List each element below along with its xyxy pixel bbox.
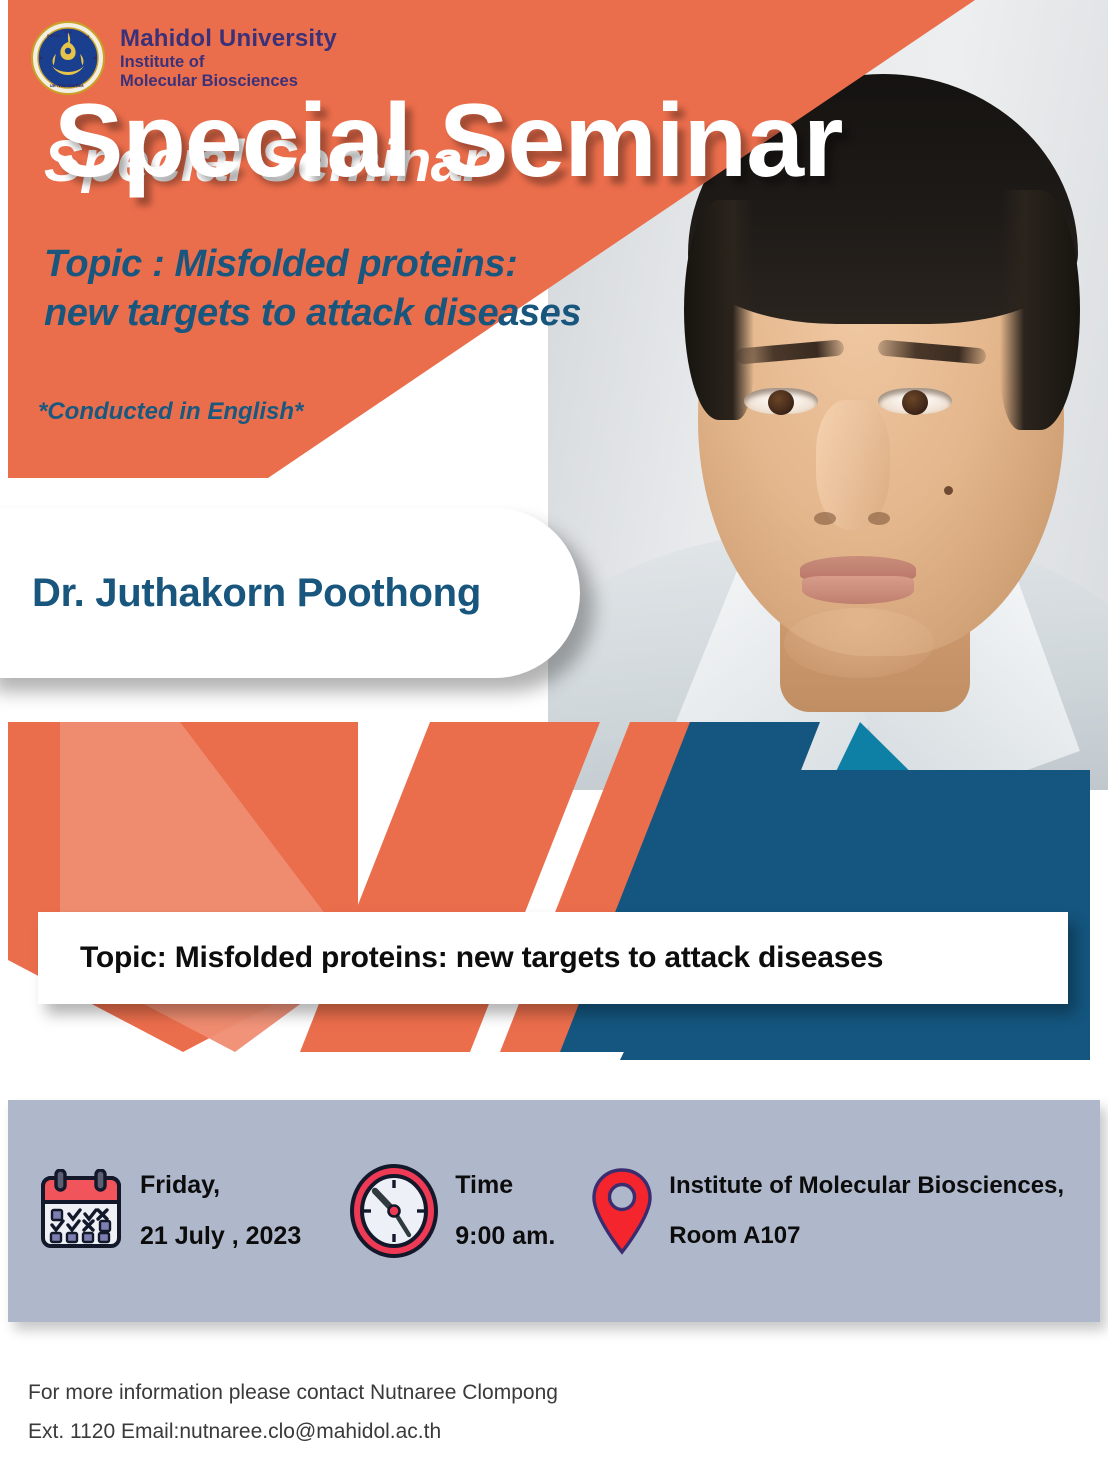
event-location-line2: Room A107 bbox=[669, 1211, 1064, 1261]
seminar-poster: อตตาน ํ อุปม ํ กเร มหาวิทยาลัยมหิดล Mahi… bbox=[0, 0, 1108, 1478]
svg-text:ํ กเร: ํ กเร bbox=[80, 34, 90, 39]
event-location-text: Institute of Molecular Biosciences, Room… bbox=[669, 1161, 1064, 1262]
event-time: Time 9:00 am. bbox=[349, 1160, 555, 1263]
clock-icon bbox=[349, 1163, 439, 1259]
event-date-line2: 21 July , 2023 bbox=[140, 1211, 301, 1262]
photo-nose bbox=[816, 400, 890, 530]
event-time-text: Time 9:00 am. bbox=[455, 1160, 555, 1263]
chevron-banner bbox=[0, 700, 1108, 1100]
header-topic-line1: Topic : Misfolded proteins: bbox=[44, 240, 744, 289]
logo-line-institute: Institute of bbox=[120, 53, 337, 72]
speaker-name: Dr. Juthakorn Poothong bbox=[32, 571, 481, 616]
photo-mole bbox=[944, 486, 953, 495]
event-location: Institute of Molecular Biosciences, Room… bbox=[591, 1161, 1064, 1262]
svg-text:อตตาน: อตตาน bbox=[47, 33, 60, 38]
event-location-line1: Institute of Molecular Biosciences, bbox=[669, 1161, 1064, 1211]
event-time-value: 9:00 am. bbox=[455, 1211, 555, 1262]
event-date-line1: Friday, bbox=[140, 1160, 301, 1211]
language-note: *Conducted in English* bbox=[38, 398, 303, 426]
photo-lower-lip bbox=[802, 576, 914, 604]
event-info-bar: Friday, 21 July , 2023 bbox=[8, 1100, 1100, 1322]
speaker-name-pill: Dr. Juthakorn Poothong bbox=[0, 508, 580, 678]
svg-text:ํ อุปม: ํ อุปม bbox=[61, 28, 72, 35]
photo-nostril-left bbox=[814, 512, 836, 525]
photo-hair-right bbox=[1000, 190, 1080, 430]
header-topic-line2: new targets to attack diseases bbox=[44, 289, 744, 338]
calendar-icon bbox=[38, 1169, 124, 1253]
contact-footer: For more information please contact Nutn… bbox=[28, 1374, 928, 1452]
map-pin-icon bbox=[591, 1167, 653, 1255]
photo-iris-right bbox=[902, 390, 928, 415]
banner-topic-strip: Topic: Misfolded proteins: new targets t… bbox=[38, 912, 1068, 1004]
photo-chin bbox=[784, 608, 934, 678]
header-content: อตตาน ํ อุปม ํ กเร มหาวิทยาลัยมหิดล Mahi… bbox=[8, 0, 768, 478]
event-date-text: Friday, 21 July , 2023 bbox=[140, 1160, 301, 1263]
banner-topic-text: Topic: Misfolded proteins: new targets t… bbox=[80, 941, 883, 975]
contact-line2: Ext. 1120 Email:nutnaree.clo@mahidol.ac.… bbox=[28, 1413, 928, 1452]
banner-wordmark: Special Seminar bbox=[54, 82, 1064, 201]
event-time-label: Time bbox=[455, 1160, 555, 1211]
event-date: Friday, 21 July , 2023 bbox=[38, 1160, 301, 1263]
photo-iris-left bbox=[768, 390, 794, 415]
contact-line1: For more information please contact Nutn… bbox=[28, 1374, 928, 1413]
header-topic: Topic : Misfolded proteins: new targets … bbox=[44, 240, 744, 337]
logo-line-university: Mahidol University bbox=[120, 25, 337, 53]
photo-nostril-right bbox=[868, 512, 890, 525]
